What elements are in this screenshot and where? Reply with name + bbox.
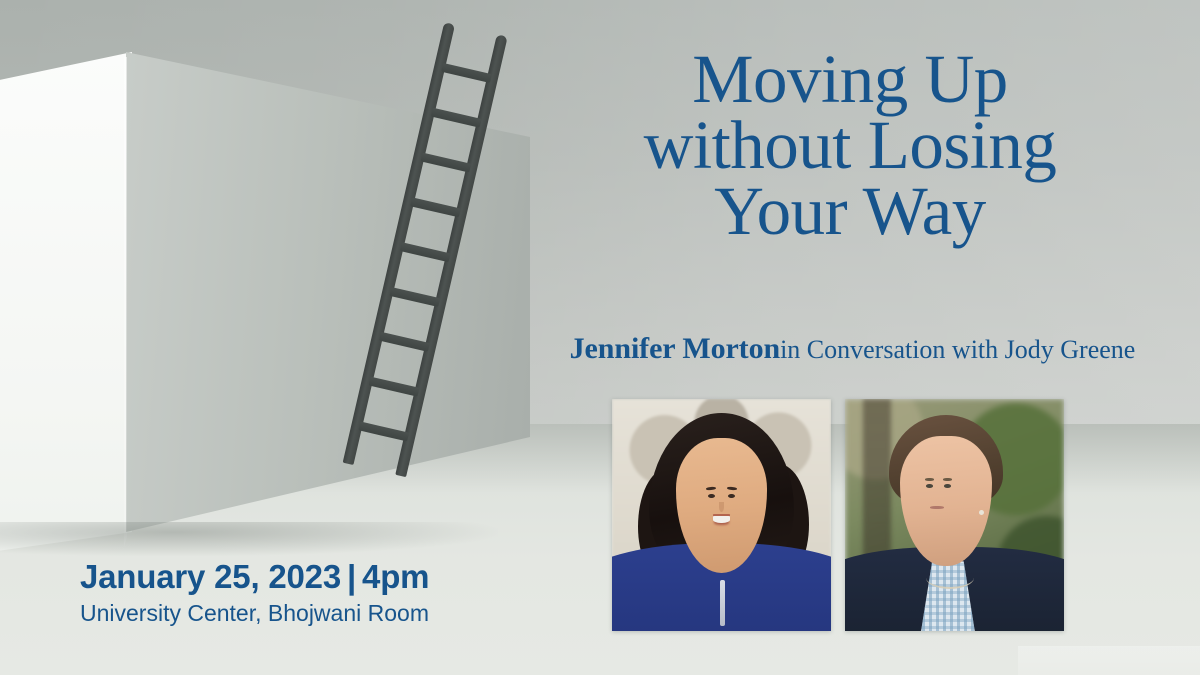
portrait-1-brow-left <box>706 486 716 490</box>
page-title: Moving Up without Losing Your Way <box>520 46 1180 245</box>
portrait-2-earring <box>979 510 984 515</box>
title-line-1: Moving Up <box>520 46 1180 112</box>
portrait-1-zipper <box>720 580 725 626</box>
portrait-2-mouth <box>930 506 944 509</box>
panel-contact-shadow <box>0 522 498 556</box>
panel-face-left <box>0 52 132 552</box>
speaker-primary-name: Jennifer Morton <box>570 332 780 365</box>
event-date-text: January 25, 2023 <box>80 558 341 595</box>
event-details: January 25, 2023|4pm University Center, … <box>80 558 429 627</box>
portrait-1-brow-right <box>727 486 737 490</box>
portrait-group <box>612 399 1064 631</box>
title-line-3: Your Way <box>520 178 1180 244</box>
event-time-text: 4pm <box>362 558 429 595</box>
corner-surface-panel <box>1018 646 1200 675</box>
portrait-1-smile <box>713 516 730 523</box>
panel-fold-edge <box>124 52 127 552</box>
portrait-2-eye-left <box>926 484 933 488</box>
title-line-2: without Losing <box>520 112 1180 178</box>
portrait-1-eye-left <box>708 494 715 498</box>
speakers-line: Jennifer Mortonin Conversation with Jody… <box>520 332 1185 366</box>
portrait-2-necklace <box>926 566 974 589</box>
event-poster: Moving Up without Losing Your Way Jennif… <box>0 0 1200 675</box>
portrait-2-brow-left <box>925 478 934 481</box>
portrait-2-eye-right <box>944 484 951 488</box>
portrait-jody-greene <box>845 399 1064 631</box>
event-venue: University Center, Bhojwani Room <box>80 600 429 627</box>
event-date-time: January 25, 2023|4pm <box>80 558 429 596</box>
event-date-separator: | <box>341 558 362 595</box>
portrait-2-brow-right <box>943 478 952 481</box>
speaker-secondary-text: in Conversation with Jody Greene <box>780 335 1135 364</box>
portrait-jennifer-morton <box>612 399 831 631</box>
portrait-1-nose <box>719 502 724 513</box>
portrait-1-eye-right <box>728 494 735 498</box>
